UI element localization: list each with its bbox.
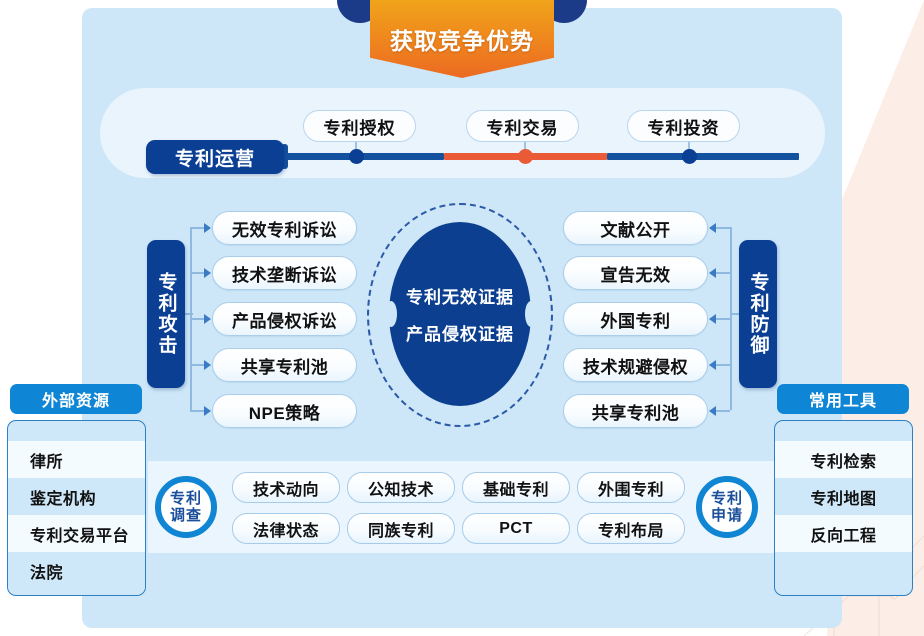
external-resource-item-2[interactable]: 鉴定机构 [8,478,145,515]
defense-item-2[interactable]: 宣告无效 [563,256,708,290]
bottom-row2-item-2[interactable]: 同族专利 [347,513,455,544]
common-tool-item-1[interactable]: 专利检索 [775,441,912,478]
attack-arrow-4 [204,360,211,370]
core-line-2: 产品侵权证据 [406,320,514,345]
operation-box-3[interactable]: 专利投资 [627,110,740,142]
defense-arrow-1 [709,223,716,233]
attack-arrow-3 [204,314,211,324]
core-notch-right [525,301,537,327]
common-tool-item-2[interactable]: 专利地图 [775,478,912,515]
defense-arrow-5 [709,406,716,416]
bottom-row1-item-3[interactable]: 基础专利 [462,472,570,503]
defense-connector-3 [716,318,730,320]
defense-spine [730,227,732,410]
bottom-row2-item-3[interactable]: PCT [462,513,570,544]
banner-title: 获取竞争优势 [390,22,534,56]
attack-item-5[interactable]: NPE策略 [212,394,357,428]
defense-connector-2 [716,272,730,274]
attack-connector-4 [190,364,204,366]
attack-connector-1 [190,227,204,229]
apply-line-1: 专利 [711,490,743,507]
attack-connector-3 [190,318,204,320]
attack-item-2[interactable]: 技术垄断诉讼 [212,256,357,290]
common-tool-item-3[interactable]: 反向工程 [775,515,912,552]
timeline-segment-blue-1 [284,153,444,160]
patent-operation-tag: 专利运营 [146,140,284,174]
patent-apply-badge[interactable]: 专利 申请 [696,476,758,538]
banner-ribbon: 获取竞争优势 [370,0,554,78]
evidence-core: 专利无效证据 产品侵权证据 [389,222,531,406]
external-resources-title: 外部资源 [10,384,142,414]
timeline-segment-blue-2 [607,153,799,160]
attack-item-1[interactable]: 无效专利诉讼 [212,211,357,245]
defense-connector-4 [716,364,730,366]
defense-arrow-3 [709,314,716,324]
attack-connector-2 [190,272,204,274]
defense-arrow-4 [709,360,716,370]
core-notch-left [385,301,397,327]
attack-arrow-5 [204,406,211,416]
bottom-row1-item-2[interactable]: 公知技术 [347,472,455,503]
bottom-row1-item-1[interactable]: 技术动向 [232,472,340,503]
defense-arrow-2 [709,268,716,278]
diagram-canvas: { "banner": { "title": "获取竞争优势" }, "oper… [0,0,924,636]
attack-item-3[interactable]: 产品侵权诉讼 [212,302,357,336]
external-resource-item-1[interactable]: 律所 [8,441,145,478]
patent-defense-tag: 专利防御 [739,240,777,388]
external-resource-item-4[interactable]: 法院 [8,552,145,589]
top-banner: 获取竞争优势 [337,0,587,82]
defense-connector-5 [716,410,730,412]
apply-line-2: 申请 [711,507,743,524]
attack-arrow-2 [204,268,211,278]
defense-item-5[interactable]: 共享专利池 [563,394,708,428]
patent-survey-badge[interactable]: 专利 调查 [155,476,217,538]
bottom-row2-item-4[interactable]: 专利布局 [577,513,685,544]
defense-connector-1 [716,227,730,229]
attack-item-4[interactable]: 共享专利池 [212,348,357,382]
bottom-row1-item-4[interactable]: 外围专利 [577,472,685,503]
operation-dot-3 [682,149,697,164]
core-line-1: 专利无效证据 [406,283,514,308]
operation-box-1[interactable]: 专利授权 [303,110,416,142]
attack-connector-5 [190,410,204,412]
survey-line-1: 专利 [170,490,202,507]
common-tools-title: 常用工具 [777,384,909,414]
operation-dot-1 [349,149,364,164]
attack-spine [190,227,192,410]
defense-item-4[interactable]: 技术规避侵权 [563,348,708,382]
defense-item-3[interactable]: 外国专利 [563,302,708,336]
attack-tag-stub [185,313,193,315]
external-resources-panel: 律所鉴定机构专利交易平台法院 [7,420,146,596]
attack-arrow-1 [204,223,211,233]
common-tools-panel: 专利检索专利地图反向工程 [774,420,913,596]
operation-dot-2 [518,149,533,164]
patent-attack-tag: 专利攻击 [147,240,185,388]
bottom-row2-item-1[interactable]: 法律状态 [232,513,340,544]
operation-box-2[interactable]: 专利交易 [466,110,579,142]
defense-item-1[interactable]: 文献公开 [563,211,708,245]
external-resource-item-3[interactable]: 专利交易平台 [8,515,145,552]
survey-line-2: 调查 [170,507,202,524]
